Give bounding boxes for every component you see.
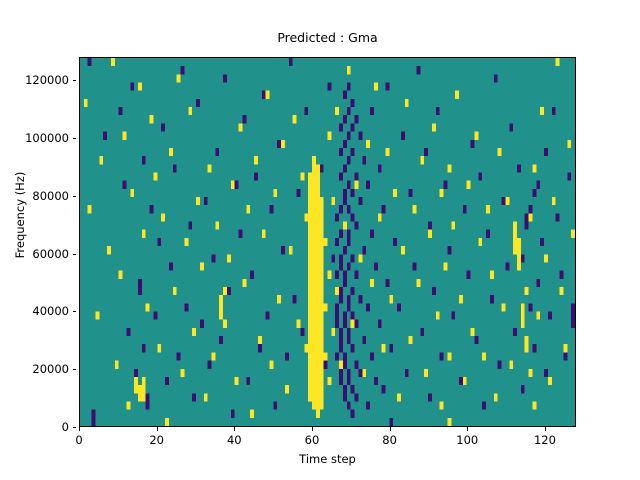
y-tick-label: 100000 — [25, 130, 69, 146]
y-tick-mark — [73, 369, 77, 370]
y-tick-mark — [73, 427, 77, 428]
x-tick-mark — [390, 427, 391, 431]
x-tick-mark — [157, 427, 158, 431]
y-tick-mark — [73, 196, 77, 197]
y-tick-label: 40000 — [32, 303, 69, 319]
y-tick-mark — [73, 80, 77, 81]
y-tick-mark — [73, 254, 77, 255]
x-tick-mark — [467, 427, 468, 431]
x-tick-label: 60 — [282, 432, 342, 448]
x-tick-mark — [79, 427, 80, 431]
figure-canvas: Predicted : Gma Frequency (Hz) 020000400… — [0, 0, 640, 480]
y-tick-mark — [73, 138, 77, 139]
y-tick-label: 120000 — [25, 72, 69, 88]
x-tick-label: 20 — [127, 432, 187, 448]
x-tick-label: 40 — [204, 432, 264, 448]
x-tick-mark — [545, 427, 546, 431]
x-tick-label: 0 — [49, 432, 109, 448]
x-tick-mark — [312, 427, 313, 431]
spectrogram-heatmap — [80, 58, 575, 426]
page-title: Predicted : Gma — [79, 30, 576, 46]
x-tick-mark — [234, 427, 235, 431]
x-tick-label: 120 — [515, 432, 575, 448]
x-tick-label: 80 — [360, 432, 420, 448]
y-tick-label: 80000 — [32, 188, 69, 204]
x-tick-label: 100 — [437, 432, 497, 448]
y-tick-mark — [73, 311, 77, 312]
y-tick-label: 60000 — [32, 246, 69, 262]
y-tick-label: 20000 — [32, 361, 69, 377]
x-axis-label: Time step — [79, 452, 576, 466]
heatmap-plot-area — [79, 57, 576, 427]
